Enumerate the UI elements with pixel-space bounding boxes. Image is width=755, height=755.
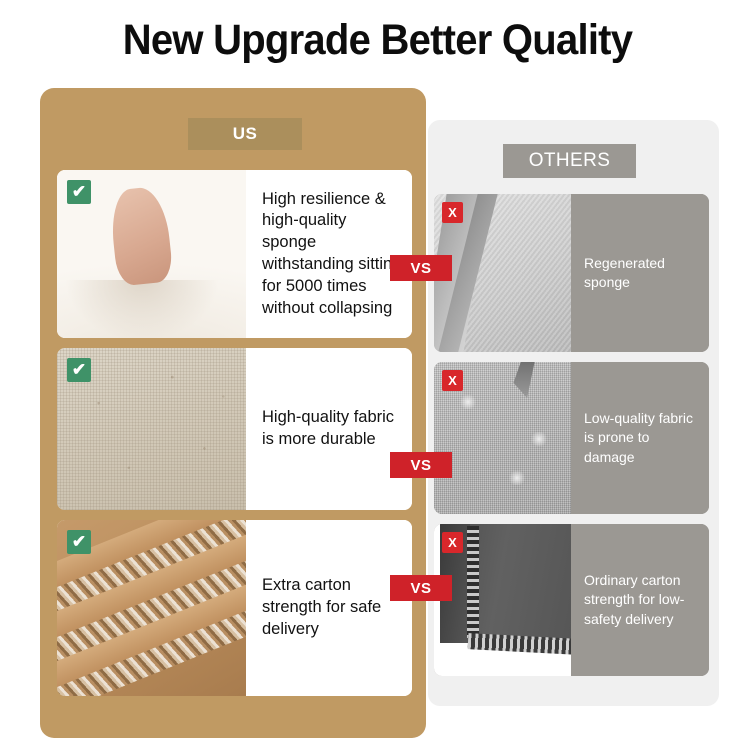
- others-card-row-2: X Low-quality fabric is prone to damage: [434, 362, 709, 514]
- us-card-row-3: ✔ Extra carton strength for safe deliver…: [57, 520, 412, 696]
- us-card-row-2: ✔ High-quality fabric is more durable: [57, 348, 412, 510]
- check-icon: ✔: [67, 180, 91, 204]
- fabric-tear: [513, 362, 535, 398]
- vs-badge-row-2: VS: [390, 452, 452, 478]
- others-text-row-3: Ordinary carton strength for low-safety …: [571, 524, 709, 676]
- others-photo-row-3: X: [434, 524, 571, 676]
- fabric-pill-2: [530, 432, 548, 446]
- us-text-row-1-label: High resilience & high-quality sponge wi…: [262, 189, 402, 320]
- others-text-row-2-label: Low-quality fabric is prone to damage: [584, 409, 701, 467]
- us-text-row-3: Extra carton strength for safe delivery: [246, 520, 412, 696]
- us-text-row-3-label: Extra carton strength for safe delivery: [262, 575, 402, 640]
- us-card-row-1: ✔ High resilience & high-quality sponge …: [57, 170, 412, 338]
- us-photo-row-1: ✔: [57, 170, 246, 338]
- others-text-row-3-label: Ordinary carton strength for low-safety …: [584, 571, 701, 629]
- others-photo-row-1: X: [434, 194, 571, 352]
- vs-badge-row-3: VS: [390, 575, 452, 601]
- fabric-pill-3: [508, 471, 526, 485]
- comparison-infographic: New Upgrade Better Quality US OTHERS ✔ H…: [0, 0, 755, 755]
- check-icon: ✔: [67, 530, 91, 554]
- others-card-row-3: X Ordinary carton strength for low-safet…: [434, 524, 709, 676]
- others-header-badge: OTHERS: [503, 144, 636, 178]
- fabric-pill-1: [459, 395, 477, 409]
- check-icon: ✔: [67, 358, 91, 382]
- carton-bottom-flute: [468, 634, 571, 656]
- us-header-badge: US: [188, 118, 302, 150]
- us-photo-row-3: ✔: [57, 520, 246, 696]
- others-card-row-1: X Regenerated sponge: [434, 194, 709, 352]
- carton-flute: [467, 526, 479, 638]
- cross-icon: X: [442, 532, 463, 553]
- cross-icon: X: [442, 202, 463, 223]
- others-text-row-1: Regenerated sponge: [571, 194, 709, 352]
- page-title: New Upgrade Better Quality: [26, 16, 728, 65]
- us-text-row-2: High-quality fabric is more durable: [246, 348, 412, 510]
- us-text-row-2-label: High-quality fabric is more durable: [262, 407, 402, 451]
- us-text-row-1: High resilience & high-quality sponge wi…: [246, 170, 412, 338]
- others-text-row-1-label: Regenerated sponge: [584, 254, 701, 293]
- us-photo-row-2: ✔: [57, 348, 246, 510]
- others-text-row-2: Low-quality fabric is prone to damage: [571, 362, 709, 514]
- cross-icon: X: [442, 370, 463, 391]
- others-photo-row-2: X: [434, 362, 571, 514]
- vs-badge-row-1: VS: [390, 255, 452, 281]
